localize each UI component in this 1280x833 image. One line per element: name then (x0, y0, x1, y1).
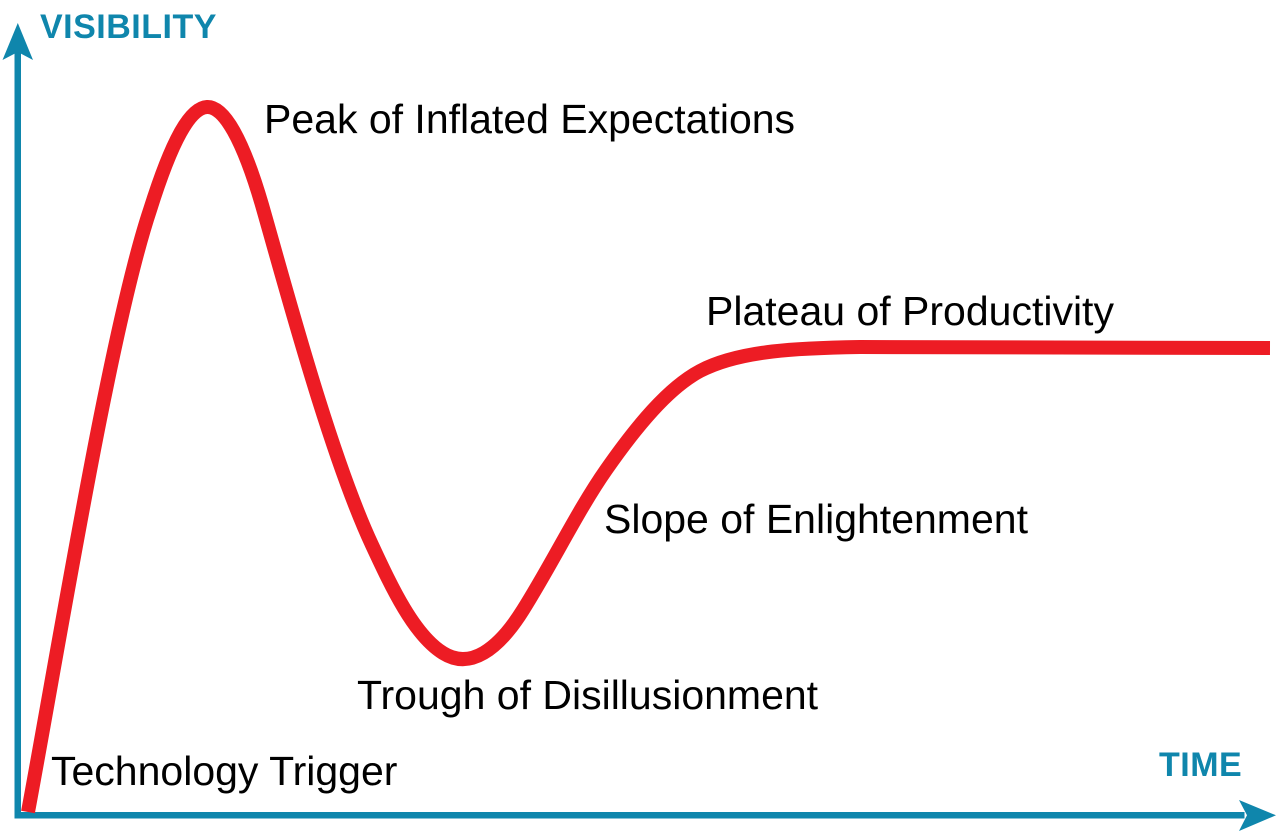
phase-label-trough-of-disillusionment: Trough of Disillusionment (357, 675, 818, 716)
x-axis-arrowhead-icon (1239, 800, 1276, 831)
hype-cycle-figure: VISIBILITY TIME Peak of Inflated Expecta… (0, 0, 1280, 833)
phase-label-technology-trigger: Technology Trigger (51, 751, 397, 792)
phase-label-plateau-of-productivity: Plateau of Productivity (706, 291, 1114, 332)
phase-label-slope-of-enlightenment: Slope of Enlightenment (604, 499, 1028, 540)
x-axis-line (15, 812, 1245, 819)
phase-label-peak-of-inflated-expectations: Peak of Inflated Expectations (264, 99, 795, 140)
x-axis-title: TIME (1159, 748, 1242, 782)
y-axis-line (15, 42, 22, 817)
y-axis-title: VISIBILITY (40, 10, 217, 44)
